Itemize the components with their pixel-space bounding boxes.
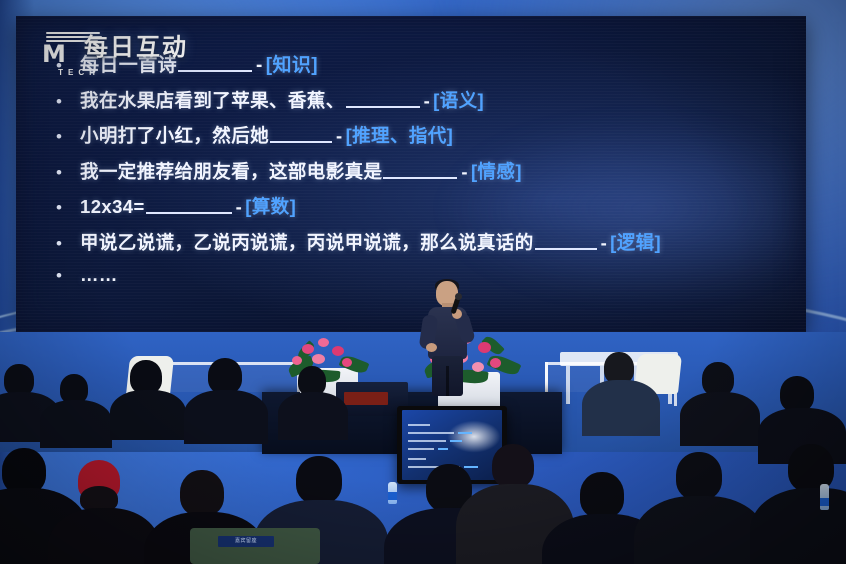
slide-bullet-row: • 12x34=-[算数] (50, 193, 782, 219)
bullet-marker: • (50, 57, 80, 74)
slide-bullet-row: • 甲说乙说谎，乙说丙说谎，丙说甲说谎，那么说真话的-[逻辑] (50, 229, 782, 255)
bullet-text: 12x34=-[算数] (80, 193, 296, 219)
fill-in-blank (178, 57, 252, 72)
broadcast-overlay-title: 每日互动 (84, 27, 188, 62)
fill-in-blank (346, 93, 420, 108)
category-tag: [情感] (471, 161, 522, 182)
category-tag: [推理、指代] (346, 125, 454, 146)
audience-area: 嘉宾留座 (0, 352, 846, 564)
bullet-marker: • (50, 267, 80, 284)
bullet-text: 小明打了小红，然后她-[推理、指代] (80, 122, 453, 148)
bullet-marker: • (50, 235, 80, 252)
slide-bullet-row: • 我在水果店看到了苹果、香蕉、-[语义] (50, 87, 782, 113)
bullet-dash: - (233, 196, 246, 217)
conference-stage-photo: M TECH • 每日一首诗-[知识] • 我在水果店看到了苹果、香蕉、-[语义… (0, 0, 846, 564)
microphone-head-icon (455, 293, 462, 300)
fill-in-blank (270, 128, 332, 143)
slide-bullet-row: • 我一定推荐给朋友看，这部电影真是-[情感] (50, 158, 782, 184)
bullet-text: 甲说乙说谎，乙说丙说谎，丙说甲说谎，那么说真话的-[逻辑] (80, 229, 661, 255)
bullet-text: 我一定推荐给朋友看，这部电影真是-[情感] (80, 158, 522, 184)
bullet-prefix-text: 我一定推荐给朋友看，这部电影真是 (80, 161, 382, 182)
slide-bullet-row: • 小明打了小红，然后她-[推理、指代] (50, 122, 782, 148)
bullet-dash: - (333, 125, 346, 146)
bullet-prefix-text: 甲说乙说谎，乙说丙说谎，丙说甲说谎，那么说真话的 (80, 232, 534, 253)
fill-in-blank (535, 235, 597, 250)
bullet-text: …… (80, 264, 118, 286)
bullet-prefix-text: 我在水果店看到了苹果、香蕉、 (80, 90, 345, 111)
led-presentation-screen: M TECH • 每日一首诗-[知识] • 我在水果店看到了苹果、香蕉、-[语义… (16, 16, 806, 332)
water-bottle (388, 482, 397, 504)
chair-reserved-badge: 嘉宾留座 (218, 536, 274, 547)
bullet-marker: • (50, 128, 80, 145)
slide-bullet-row: • …… (50, 264, 782, 286)
bullet-prefix-text: 小明打了小红，然后她 (80, 125, 269, 146)
category-tag: [知识] (266, 55, 318, 76)
bullet-marker: • (50, 164, 80, 181)
category-tag: [逻辑] (610, 232, 661, 253)
bullet-dash: - (458, 161, 471, 182)
category-tag: [算数] (245, 196, 296, 217)
speaker-left-hand (426, 343, 437, 352)
bullet-text: 我在水果店看到了苹果、香蕉、-[语义] (80, 87, 484, 113)
bullet-dash: - (421, 90, 434, 111)
fill-in-blank (146, 199, 232, 214)
bullet-marker: • (50, 199, 80, 216)
fill-in-blank (383, 164, 457, 179)
bullet-marker: • (50, 93, 80, 110)
water-bottle (820, 484, 829, 510)
category-tag: [语义] (433, 90, 484, 111)
slide-bullet-list: • 每日一首诗-[知识] • 我在水果店看到了苹果、香蕉、-[语义] • 小明打… (50, 50, 782, 296)
bullet-prefix-text: 12x34= (80, 196, 145, 217)
bullet-dash: - (253, 55, 266, 76)
bullet-dash: - (598, 232, 611, 253)
